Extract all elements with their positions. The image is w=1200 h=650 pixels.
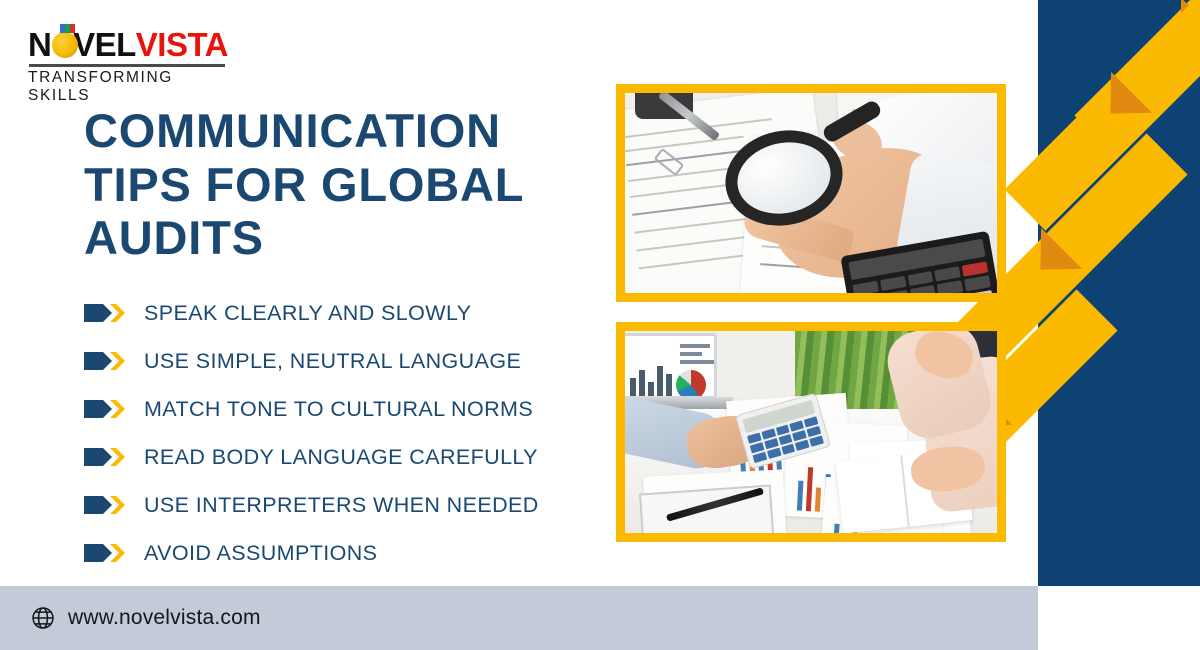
photo-audit-magnifier — [625, 93, 997, 293]
logo-text-vista: VISTA — [136, 28, 228, 61]
navy-arrow-yellow-chevron-icon — [84, 398, 130, 420]
list-item-label: SPEAK CLEARLY AND SLOWLY — [144, 301, 471, 326]
headline-line-3: AUDITS — [84, 211, 264, 264]
navy-arrow-yellow-chevron-icon — [84, 302, 130, 324]
list-item: SPEAK CLEARLY AND SLOWLY — [84, 289, 604, 337]
brand-logo[interactable]: N VEL VISTA TRANSFORMING SKILLS — [28, 28, 228, 105]
list-item-label: USE INTERPRETERS WHEN NEEDED — [144, 493, 539, 518]
footer-bar: www.novelvista.com — [0, 586, 1038, 650]
logo-wordmark: N VEL VISTA — [28, 28, 228, 61]
navy-arrow-yellow-chevron-icon — [84, 494, 130, 516]
headline-line-2: TIPS FOR GLOBAL — [84, 158, 524, 211]
list-item: MATCH TONE TO CULTURAL NORMS — [84, 385, 604, 433]
photo-frame-bottom — [616, 322, 1006, 542]
logo-text-vel: VEL — [73, 28, 136, 61]
logo-divider — [29, 64, 225, 67]
navy-arrow-yellow-chevron-icon — [84, 446, 130, 468]
photo-business-meeting — [625, 331, 997, 533]
list-item-label: USE SIMPLE, NEUTRAL LANGUAGE — [144, 349, 521, 374]
headline-line-1: COMMUNICATION — [84, 104, 501, 157]
list-item: AVOID ASSUMPTIONS — [84, 529, 604, 577]
list-item: USE SIMPLE, NEUTRAL LANGUAGE — [84, 337, 604, 385]
logo-globe-o-icon — [52, 31, 72, 58]
logo-text-n: N — [28, 28, 51, 61]
tips-list: SPEAK CLEARLY AND SLOWLY USE SIMPLE, NEU… — [84, 289, 604, 577]
list-item-label: MATCH TONE TO CULTURAL NORMS — [144, 397, 533, 422]
page-title: COMMUNICATION TIPS FOR GLOBAL AUDITS — [84, 104, 604, 265]
website-url[interactable]: www.novelvista.com — [68, 606, 261, 630]
laptop-object — [625, 333, 717, 399]
photo-frame-top — [616, 84, 1006, 302]
list-item: READ BODY LANGUAGE CAREFULLY — [84, 433, 604, 481]
list-item-label: READ BODY LANGUAGE CAREFULLY — [144, 445, 538, 470]
list-item-label: AVOID ASSUMPTIONS — [144, 541, 377, 566]
poster-canvas: N VEL VISTA TRANSFORMING SKILLS COMMUNIC… — [0, 0, 1200, 650]
list-item: USE INTERPRETERS WHEN NEEDED — [84, 481, 604, 529]
navy-arrow-yellow-chevron-icon — [84, 350, 130, 372]
navy-arrow-yellow-chevron-icon — [84, 542, 130, 564]
globe-icon — [30, 605, 56, 631]
logo-tagline: TRANSFORMING SKILLS — [28, 69, 228, 105]
